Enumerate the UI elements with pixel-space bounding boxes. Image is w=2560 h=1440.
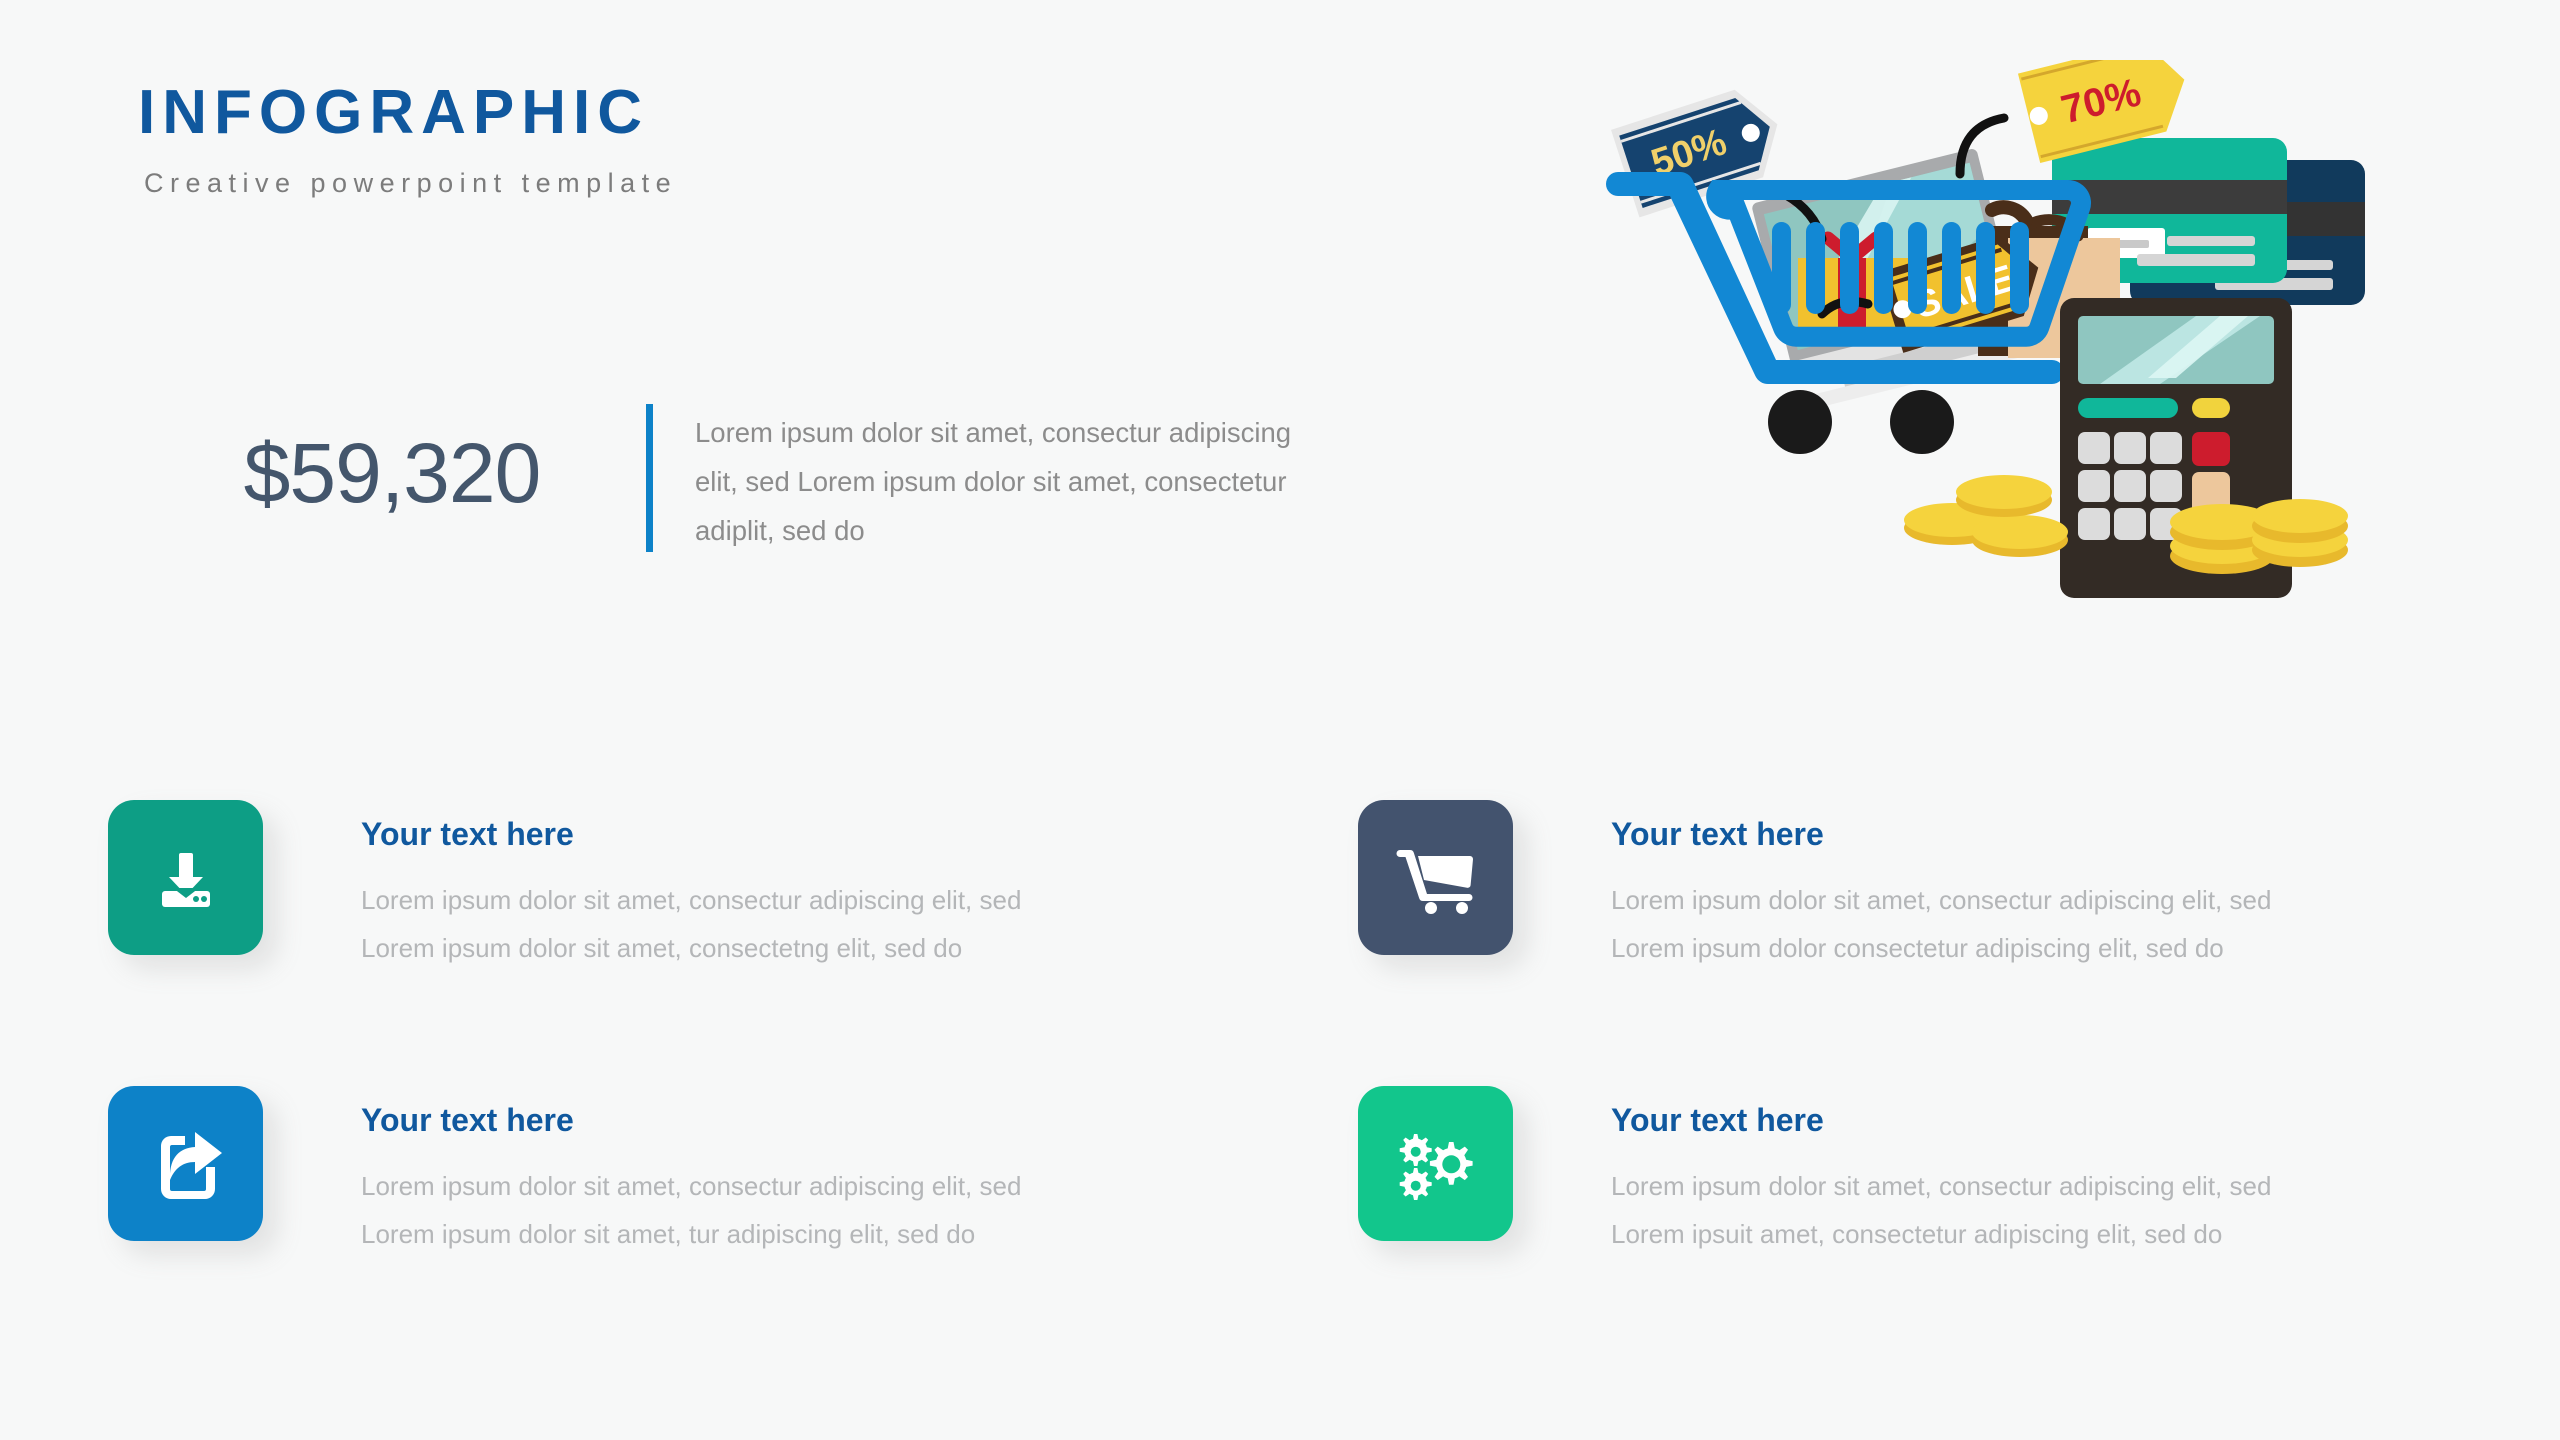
feature-item-2[interactable]: Your text here Lorem ipsum dolor sit ame… (1358, 800, 2468, 1086)
feature-line-2b: Lorem ipsum dolor consectetur adipiscing… (1611, 924, 2271, 972)
feature-title-3: Your text here (361, 1104, 1021, 1136)
feature-line-1b: Lorem ipsum dolor sit amet, consectetng … (361, 924, 1021, 972)
feature-title-4: Your text here (1611, 1104, 2271, 1136)
feature-body-2: Your text here Lorem ipsum dolor sit ame… (1513, 800, 2271, 972)
stat-block: $59,320 Lorem ipsum dolor sit amet, cons… (138, 398, 1335, 555)
feature-item-1[interactable]: Your text here Lorem ipsum dolor sit ame… (108, 800, 1358, 1086)
stat-divider (646, 404, 653, 552)
feature-line-1a: Lorem ipsum dolor sit amet, consectur ad… (361, 876, 1021, 924)
shopping-cart-icon[interactable] (1358, 800, 1513, 955)
feature-body-3: Your text here Lorem ipsum dolor sit ame… (263, 1086, 1021, 1258)
feature-line-3a: Lorem ipsum dolor sit amet, consectur ad… (361, 1162, 1021, 1210)
feature-line-4b: Lorem ipsuit amet, consectetur adipiscin… (1611, 1210, 2271, 1258)
feature-body-1: Your text here Lorem ipsum dolor sit ame… (263, 800, 1021, 972)
feature-line-2a: Lorem ipsum dolor sit amet, consectur ad… (1611, 876, 2271, 924)
feature-title-1: Your text here (361, 818, 1021, 850)
share-icon[interactable] (108, 1086, 263, 1241)
feature-title-2: Your text here (1611, 818, 2271, 850)
feature-item-3[interactable]: Your text here Lorem ipsum dolor sit ame… (108, 1086, 1358, 1372)
stat-value: $59,320 (138, 398, 646, 548)
download-icon[interactable] (108, 800, 263, 955)
feature-body-4: Your text here Lorem ipsum dolor sit ame… (1513, 1086, 2271, 1258)
page-title: INFOGRAPHIC (138, 82, 677, 144)
feature-grid: Your text here Lorem ipsum dolor sit ame… (108, 800, 2468, 1372)
page-subtitle: Creative powerpoint template (144, 168, 677, 199)
gears-icon[interactable] (1358, 1086, 1513, 1241)
header: INFOGRAPHIC Creative powerpoint template (138, 82, 677, 199)
ecommerce-shopping-illustration: 50% 70% SALE (1600, 60, 2460, 760)
feature-line-4a: Lorem ipsum dolor sit amet, consectur ad… (1611, 1162, 2271, 1210)
feature-item-4[interactable]: Your text here Lorem ipsum dolor sit ame… (1358, 1086, 2468, 1372)
feature-line-3b: Lorem ipsum dolor sit amet, tur adipisci… (361, 1210, 1021, 1258)
stat-description: Lorem ipsum dolor sit amet, consectur ad… (695, 398, 1335, 555)
